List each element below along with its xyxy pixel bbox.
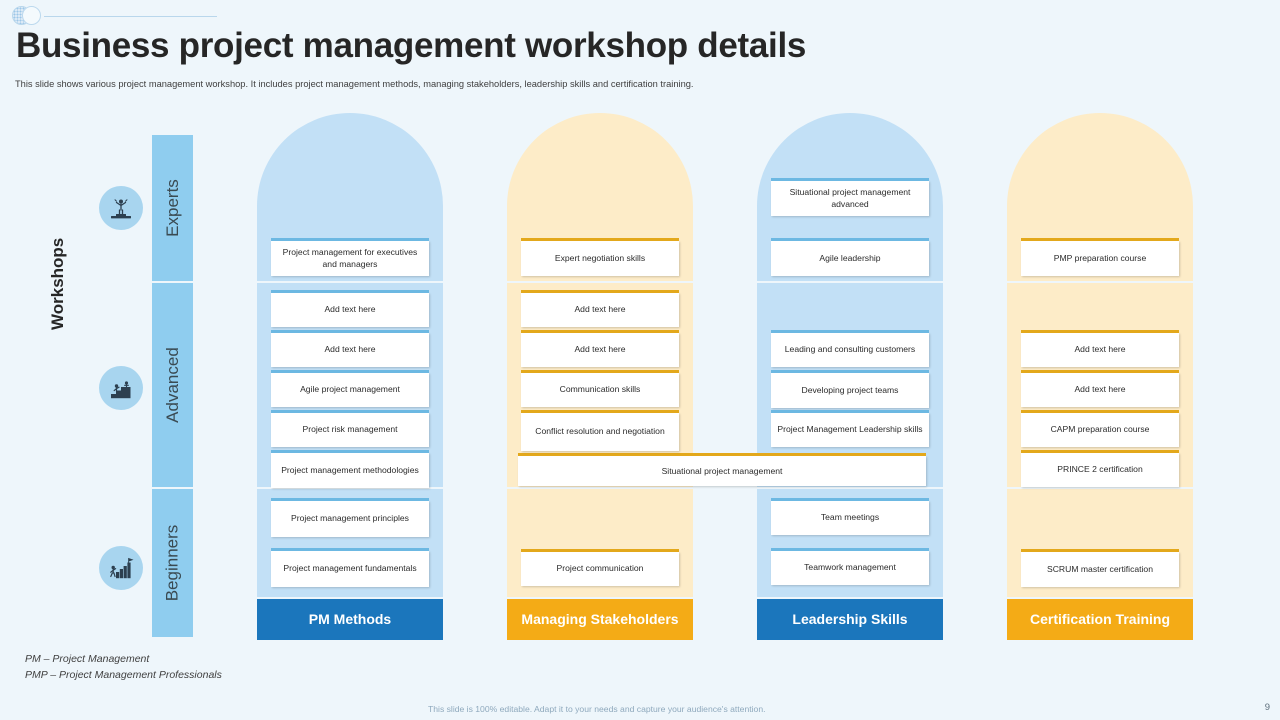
card-pm-methods-beginners-1[interactable]: Project management principles [271,501,429,537]
level-icon-beginners [99,546,143,590]
axis-label-workshops: Workshops [48,238,68,330]
level-icon-advanced [99,366,143,410]
card-managing-stakeholders-advanced-3[interactable]: Communication skills [521,373,679,407]
card-pm-methods-beginners-2[interactable]: Project management fundamentals [271,551,429,587]
column-footer-managing-stakeholders[interactable]: Managing Stakeholders [507,599,693,640]
page-subtitle: This slide shows various project managem… [15,79,1015,89]
column-footer-leadership-skills[interactable]: Leadership Skills [757,599,943,640]
card-certification-training-advanced-4[interactable]: PRINCE 2 certification [1021,453,1179,487]
header-rule [44,16,217,17]
card-certification-training-advanced-1[interactable]: Add text here [1021,333,1179,367]
level-band-beginners: Beginners [152,489,193,637]
card-managing-stakeholders-experts-1[interactable]: Expert negotiation skills [521,241,679,276]
card-pm-methods-advanced-1[interactable]: Add text here [271,293,429,327]
column-footer-pm-methods[interactable]: PM Methods [257,599,443,640]
card-pm-methods-advanced-2[interactable]: Add text here [271,333,429,367]
legend-line-2: PMP – Project Management Professionals [25,667,222,683]
card-certification-training-experts-1[interactable]: PMP preparation course [1021,241,1179,276]
page-number: 9 [1265,702,1270,713]
card-pm-methods-experts-1[interactable]: Project management for executives and ma… [271,241,429,276]
legend-line-1: PM – Project Management [25,651,222,667]
level-band-advanced: Advanced [152,283,193,487]
outline-circle-icon [22,6,41,25]
card-leadership-skills-advanced-2[interactable]: Developing project teams [771,373,929,408]
card-managing-stakeholders-advanced-1[interactable]: Add text here [521,293,679,327]
card-leadership-skills-advanced-3[interactable]: Project Management Leadership skills [771,413,929,447]
footer-note: This slide is 100% editable. Adapt it to… [428,704,766,714]
decor-circles-icon [8,4,218,28]
card-leadership-skills-advanced-1[interactable]: Leading and consulting customers [771,333,929,367]
level-band-label-beginners: Beginners [163,525,183,602]
card-certification-training-advanced-3[interactable]: CAPM preparation course [1021,413,1179,447]
level-band-label-advanced: Advanced [163,347,183,423]
card-leadership-skills-beginners-2[interactable]: Teamwork management [771,551,929,585]
card-pm-methods-advanced-4[interactable]: Project risk management [271,413,429,447]
card-managing-stakeholders-beginners-1[interactable]: Project communication [521,552,679,586]
page-title: Business project management workshop det… [16,26,806,66]
legend: PM – Project Management PMP – Project Ma… [25,651,222,684]
level-band-label-experts: Experts [163,179,183,237]
card-leadership-skills-beginners-1[interactable]: Team meetings [771,501,929,535]
card-pm-methods-advanced-3[interactable]: Agile project management [271,373,429,407]
level-band-experts: Experts [152,135,193,281]
card-certification-training-advanced-2[interactable]: Add text here [1021,373,1179,407]
level-icon-experts [99,186,143,230]
card-managing-stakeholders-advanced-2[interactable]: Add text here [521,333,679,367]
spanning-card-situational-pm[interactable]: Situational project management [518,456,926,486]
column-footer-certification-training[interactable]: Certification Training [1007,599,1193,640]
card-leadership-skills-experts-2[interactable]: Agile leadership [771,241,929,276]
card-managing-stakeholders-advanced-4[interactable]: Conflict resolution and negotiation [521,413,679,451]
card-pm-methods-advanced-5[interactable]: Project management methodologies [271,453,429,488]
card-leadership-skills-experts-1[interactable]: Situational project management advanced [771,181,929,216]
card-certification-training-beginners-1[interactable]: SCRUM master certification [1021,552,1179,587]
